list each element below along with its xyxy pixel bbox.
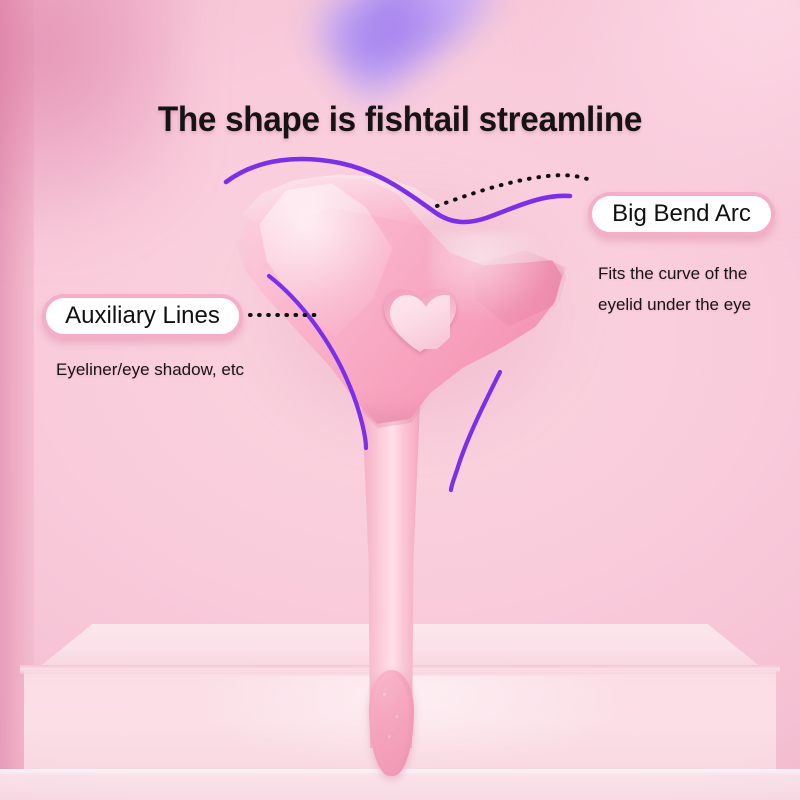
top-fishtail-edge-curve-line <box>226 159 570 222</box>
infographic-canvas: The shape is fishtail streamline Auxilia… <box>0 0 800 800</box>
right-inner-junction-curve-line <box>451 372 500 490</box>
page-title: The shape is fishtail streamline <box>20 100 780 140</box>
description-auxiliary-lines: Eyeliner/eye shadow, etc <box>56 354 356 385</box>
label-pill-big-bend-arc-text: Big Bend Arc <box>612 200 751 228</box>
label-pill-big-bend-arc[interactable]: Big Bend Arc <box>588 192 775 236</box>
label-pill-auxiliary-lines-text: Auxiliary Lines <box>65 302 220 330</box>
description-big-bend-arc: Fits the curve of the eyelid under the e… <box>598 258 798 320</box>
arc-label-connector-line <box>437 175 590 206</box>
label-pill-auxiliary-lines[interactable]: Auxiliary Lines <box>42 294 243 338</box>
